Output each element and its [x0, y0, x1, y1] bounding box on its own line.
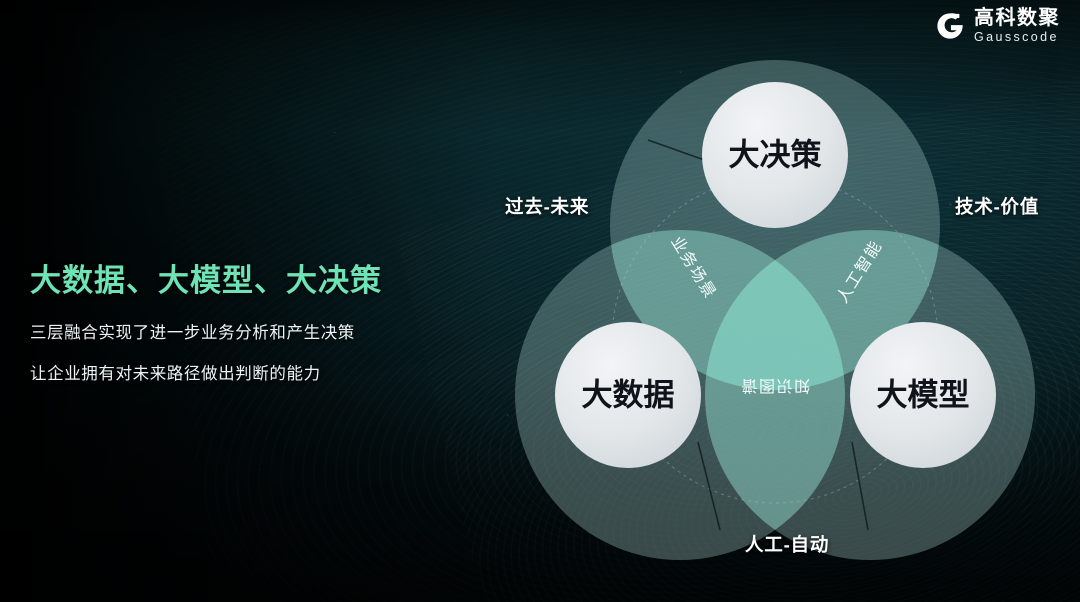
- copy-line-2: 让企业拥有对未来路径做出判断的能力: [30, 360, 460, 384]
- venn-label-decision: 大决策: [729, 138, 822, 173]
- gausscode-circle-mark-icon: [935, 11, 965, 41]
- brand-name-cn: 高科数聚: [974, 8, 1060, 28]
- brand-logo: 高科数聚 Gausscode: [935, 8, 1060, 44]
- axis-label-manual-automatic: 人工-自动: [745, 531, 829, 557]
- venn-label-bigmodel: 大模型: [877, 378, 970, 413]
- slide-root: 高科数聚 Gausscode 大数据、大模型、大决策 三层融合实现了进一步业务分…: [0, 0, 1080, 602]
- brand-name-en: Gausscode: [974, 31, 1060, 44]
- venn-intersection-label-knowledge-graph: 知识图谱: [740, 377, 810, 395]
- copy-line-1: 三层融合实现了进一步业务分析和产生决策: [30, 319, 460, 343]
- brand-logo-wordmark: 高科数聚 Gausscode: [974, 8, 1060, 44]
- venn-label-bigdata: 大数据: [582, 378, 675, 413]
- axis-label-past-future: 过去-未来: [505, 193, 589, 219]
- page-title: 大数据、大模型、大决策: [30, 255, 460, 300]
- copy-block: 大数据、大模型、大决策 三层融合实现了进一步业务分析和产生决策 让企业拥有对未来…: [30, 255, 460, 384]
- axis-label-technology-value: 技术-价值: [955, 193, 1039, 219]
- venn-diagram: 大决策 大数据 大模型 业务场景 人工智能 知识图谱: [470, 10, 1080, 590]
